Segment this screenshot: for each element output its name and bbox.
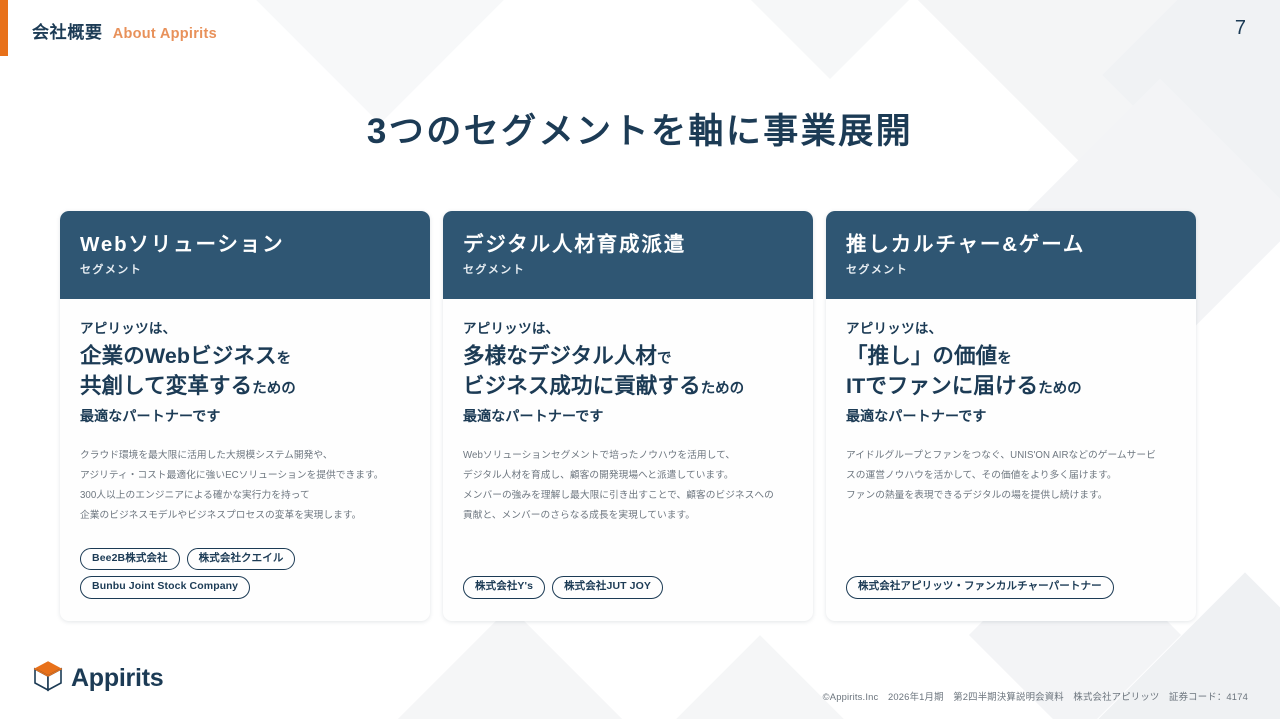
company-tag-list: Bee2B株式会社 株式会社クエイル Bunbu Joint Stock Com… bbox=[80, 532, 410, 621]
cube-logo-icon bbox=[33, 660, 63, 697]
lead-line-2-suffix: ための bbox=[1038, 381, 1082, 397]
company-tag[interactable]: 株式会社クエイル bbox=[187, 548, 296, 571]
lead-line-1-main: 多様なデジタル人材 bbox=[463, 344, 657, 368]
lead-line-1: 多様なデジタル人材で bbox=[463, 342, 793, 372]
segment-title: デジタル人材育成派遣 bbox=[463, 233, 793, 257]
lead-line-2-suffix: ための bbox=[252, 381, 296, 397]
page-number: 7 bbox=[1235, 17, 1246, 40]
lead-closing: 最適なパートナーです bbox=[463, 406, 793, 426]
lead-closing: 最適なパートナーです bbox=[846, 406, 1176, 426]
segment-title: 推しカルチャー&ゲーム bbox=[846, 233, 1176, 257]
segment-card: Webソリューション セグメント アピリッツは、 企業のWebビジネスを 共創し… bbox=[60, 211, 430, 621]
segment-label: セグメント bbox=[846, 261, 1176, 277]
lead-line-2: ビジネス成功に貢献するための bbox=[463, 372, 793, 402]
segment-label: セグメント bbox=[463, 261, 793, 277]
company-tag[interactable]: Bunbu Joint Stock Company bbox=[80, 576, 250, 599]
lead-line-2: 共創して変革するための bbox=[80, 372, 410, 402]
company-tag[interactable]: Bee2B株式会社 bbox=[80, 548, 180, 571]
segment-card-body: アピリッツは、 「推し」の価値を ITでファンに届けるための 最適なパートナーで… bbox=[826, 299, 1196, 621]
lead-line-1: 「推し」の価値を bbox=[846, 342, 1176, 372]
segment-card-header: デジタル人材育成派遣 セグメント bbox=[443, 211, 813, 299]
segment-description: クラウド環境を最大限に活用した大規模システム開発や、 アジリティ・コスト最適化に… bbox=[80, 446, 410, 526]
company-tag[interactable]: 株式会社アピリッツ・ファンカルチャーパートナー bbox=[846, 576, 1114, 599]
segment-card-header: 推しカルチャー&ゲーム セグメント bbox=[826, 211, 1196, 299]
header-title-jp: 会社概要 bbox=[32, 18, 103, 43]
description-line: 300人以上のエンジニアによる確かな実行力を持って bbox=[80, 486, 410, 506]
segment-card-header: Webソリューション セグメント bbox=[60, 211, 430, 299]
lead-line-1-suffix: で bbox=[657, 351, 672, 367]
segment-card: 推しカルチャー&ゲーム セグメント アピリッツは、 「推し」の価値を ITでファ… bbox=[826, 211, 1196, 621]
lead-line-2: ITでファンに届けるための bbox=[846, 372, 1176, 402]
description-line: 企業のビジネスモデルやビジネスプロセスの変革を実現します。 bbox=[80, 506, 410, 526]
lead-line-2-suffix: ための bbox=[701, 381, 745, 397]
company-tag[interactable]: 株式会社JUT JOY bbox=[552, 576, 663, 599]
description-line: クラウド環境を最大限に活用した大規模システム開発や、 bbox=[80, 446, 410, 466]
slide-header: 会社概要 About Appirits bbox=[32, 18, 217, 43]
lead-intro: アピリッツは、 bbox=[846, 320, 1176, 339]
segment-card-body: アピリッツは、 多様なデジタル人材で ビジネス成功に貢献するための 最適なパート… bbox=[443, 299, 813, 621]
appirits-logo: Appirits bbox=[33, 660, 163, 697]
description-line: アイドルグループとファンをつなぐ、UNIS'ON AIRなどのゲームサービ bbox=[846, 446, 1176, 466]
description-line: 貢献と、メンバーのさらなる成長を実現しています。 bbox=[463, 506, 793, 526]
header-title-en: About Appirits bbox=[113, 26, 217, 42]
lead-line-1-main: 「推し」の価値 bbox=[846, 344, 997, 368]
page-title: 3つのセグメントを軸に事業展開 bbox=[0, 103, 1280, 154]
company-tag[interactable]: 株式会社Y's bbox=[463, 576, 545, 599]
lead-line-1: 企業のWebビジネスを bbox=[80, 342, 410, 372]
lead-line-1-suffix: を bbox=[277, 351, 292, 367]
segment-description: Webソリューションセグメントで培ったノウハウを活用して、 デジタル人材を育成し… bbox=[463, 446, 793, 526]
lead-closing: 最適なパートナーです bbox=[80, 406, 410, 426]
lead-line-1-main: 企業のWebビジネス bbox=[80, 344, 277, 368]
logo-wordmark: Appirits bbox=[71, 664, 163, 693]
description-line: アジリティ・コスト最適化に強いECソリューションを提供できます。 bbox=[80, 466, 410, 486]
lead-line-2-main: 共創して変革する bbox=[80, 374, 252, 398]
segment-card-list: Webソリューション セグメント アピリッツは、 企業のWebビジネスを 共創し… bbox=[60, 211, 1220, 621]
lead-line-1-suffix: を bbox=[997, 351, 1012, 367]
segment-description: アイドルグループとファンをつなぐ、UNIS'ON AIRなどのゲームサービ スの… bbox=[846, 446, 1176, 506]
description-line: ファンの熱量を表現できるデジタルの場を提供し続けます。 bbox=[846, 486, 1176, 506]
company-tag-list: 株式会社アピリッツ・ファンカルチャーパートナー bbox=[846, 560, 1176, 621]
header-accent-bar bbox=[0, 0, 8, 56]
description-line: メンバーの強みを理解し最大限に引き出すことで、顧客のビジネスへの bbox=[463, 486, 793, 506]
description-line: Webソリューションセグメントで培ったノウハウを活用して、 bbox=[463, 446, 793, 466]
segment-card: デジタル人材育成派遣 セグメント アピリッツは、 多様なデジタル人材で ビジネス… bbox=[443, 211, 813, 621]
company-tag-list: 株式会社Y's 株式会社JUT JOY bbox=[463, 560, 793, 621]
segment-card-body: アピリッツは、 企業のWebビジネスを 共創して変革するための 最適なパートナー… bbox=[60, 299, 430, 621]
segment-label: セグメント bbox=[80, 261, 410, 277]
description-line: スの運営ノウハウを活かして、その価値をより多く届けます。 bbox=[846, 466, 1176, 486]
lead-line-2-main: ビジネス成功に貢献する bbox=[463, 374, 701, 398]
description-line: デジタル人材を育成し、顧客の開発現場へと派遣しています。 bbox=[463, 466, 793, 486]
copyright-note: ©Appirits.Inc 2026年1月期 第2四半期決算説明会資料 株式会社… bbox=[823, 689, 1248, 703]
lead-line-2-main: ITでファンに届ける bbox=[846, 374, 1038, 398]
lead-intro: アピリッツは、 bbox=[80, 320, 410, 339]
lead-intro: アピリッツは、 bbox=[463, 320, 793, 339]
segment-title: Webソリューション bbox=[80, 233, 410, 257]
